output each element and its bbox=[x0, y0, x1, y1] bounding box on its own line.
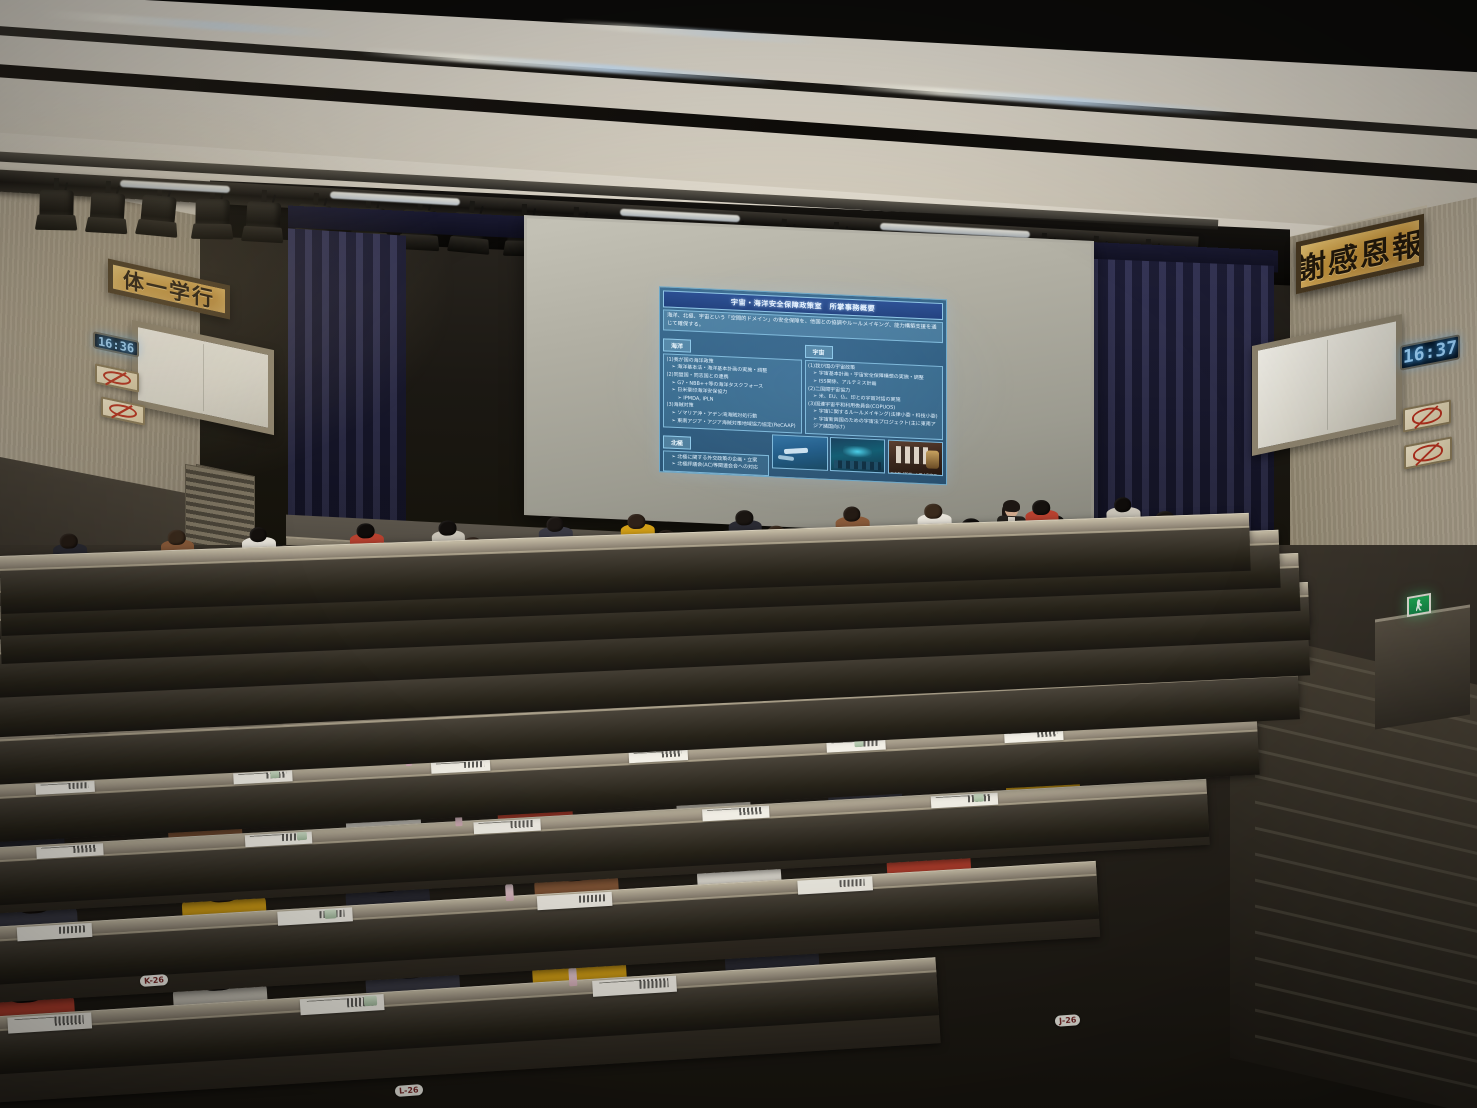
slide-column-heading: 宇宙 bbox=[805, 345, 833, 359]
light-barndoor bbox=[191, 223, 234, 239]
slide-column-list: (1)我が国の宇宙政策➢ 宇宙基本計画・宇宙安全保障構想の実施・調整➢ ISS関… bbox=[805, 360, 944, 440]
aisle-step bbox=[1255, 827, 1477, 885]
slide-photo-caption: 日本発「新初」と無人宇宙ロード bbox=[889, 472, 942, 476]
smartphone bbox=[363, 995, 377, 1006]
slide-column-list: (1)我が国の海洋政策➢ 海洋基本法・海洋基本計画の実施・調整(2)同盟国・同志… bbox=[663, 353, 802, 434]
screen-surface: 宇宙・海洋安全保障政策室 所掌事務概要 海洋、北極、宇宙という「空間的ドメイン」… bbox=[527, 218, 1091, 538]
running-person-icon bbox=[1416, 598, 1423, 611]
slide-photo: 宇宙デブリ会合 bbox=[830, 437, 885, 474]
no-smoking-icon bbox=[103, 369, 131, 387]
smartphone bbox=[270, 771, 280, 779]
slide-bottom-heading: 北極 bbox=[663, 436, 691, 450]
drink-bottle bbox=[505, 884, 514, 901]
aisle-step bbox=[1255, 853, 1477, 911]
projection-screen: 宇宙・海洋安全保障政策室 所掌事務概要 海洋、北極、宇宙という「空間的ドメイン」… bbox=[524, 215, 1094, 541]
seat-number-label: L-26 bbox=[395, 1084, 423, 1097]
stage-light-fixture bbox=[89, 180, 126, 234]
slide-column-space: 宇宙 (1)我が国の宇宙政策➢ 宇宙基本計画・宇宙安全保障構想の実施・調整➢ I… bbox=[805, 339, 944, 440]
slide-photo-strip: 海賊対処行動 宇宙デブリ会合 日本発「新初」と無人宇宙ロード bbox=[772, 435, 943, 477]
aisle-step bbox=[1255, 905, 1477, 963]
smartphone bbox=[297, 832, 308, 841]
drink-bottle bbox=[568, 967, 578, 986]
lecture-hall-photo: 宇宙・海洋安全保障政策室 所掌事務概要 海洋、北極、宇宙という「空間的ドメイン」… bbox=[0, 0, 1477, 1108]
slide-column-ocean: 海洋 (1)我が国の海洋政策➢ 海洋基本法・海洋基本計画の実施・調整(2)同盟国… bbox=[663, 333, 802, 434]
exit-door bbox=[1375, 604, 1470, 729]
slide-bottom-list: ➢ 北極に関する外交政策の企画・立案➢ 北極評議会(AC)等関連会合への対応 bbox=[663, 450, 769, 476]
light-barndoor bbox=[35, 215, 78, 231]
seat-number-label: J-26 bbox=[1055, 1014, 1081, 1027]
aisle-step bbox=[1255, 879, 1477, 937]
no-smoking-icon bbox=[1412, 405, 1443, 426]
smartphone bbox=[324, 909, 336, 919]
light-barndoor bbox=[241, 225, 284, 242]
no-food-drink-icon bbox=[109, 402, 137, 420]
stage-light-fixture bbox=[245, 189, 282, 243]
aisle-step bbox=[1255, 931, 1477, 989]
emergency-exit-sign bbox=[1407, 593, 1431, 617]
aisle-step bbox=[1255, 957, 1477, 1015]
smartphone bbox=[974, 794, 985, 803]
slide-columns: 海洋 (1)我が国の海洋政策➢ 海洋基本法・海洋基本計画の実施・調整(2)同盟国… bbox=[663, 333, 943, 441]
no-food-drink-icon bbox=[1413, 442, 1444, 463]
aisle-step bbox=[1255, 983, 1477, 1041]
audience-head bbox=[1032, 500, 1050, 516]
aisle-step bbox=[1255, 723, 1477, 781]
slide-photo: 日本発「新初」と無人宇宙ロード bbox=[888, 440, 943, 477]
aisle-step bbox=[1255, 1009, 1477, 1067]
presentation-slide: 宇宙・海洋安全保障政策室 所掌事務概要 海洋、北極、宇宙という「空間的ドメイン」… bbox=[659, 286, 947, 485]
aisle-step bbox=[1255, 801, 1477, 859]
audience-head bbox=[168, 530, 186, 546]
slide-column-heading: 海洋 bbox=[663, 339, 691, 353]
stage-light-fixture bbox=[39, 178, 74, 231]
light-barndoor bbox=[85, 217, 128, 234]
audience-head bbox=[735, 510, 753, 526]
stage-light-fixture bbox=[195, 187, 230, 240]
slide-photo: 海賊対処行動 bbox=[772, 435, 827, 472]
aisle-step bbox=[1255, 775, 1477, 833]
audience-head bbox=[438, 520, 456, 536]
seat-number-label: K-26 bbox=[140, 974, 169, 987]
aisle-step bbox=[1255, 749, 1477, 807]
stage-light-fixture bbox=[139, 182, 178, 237]
